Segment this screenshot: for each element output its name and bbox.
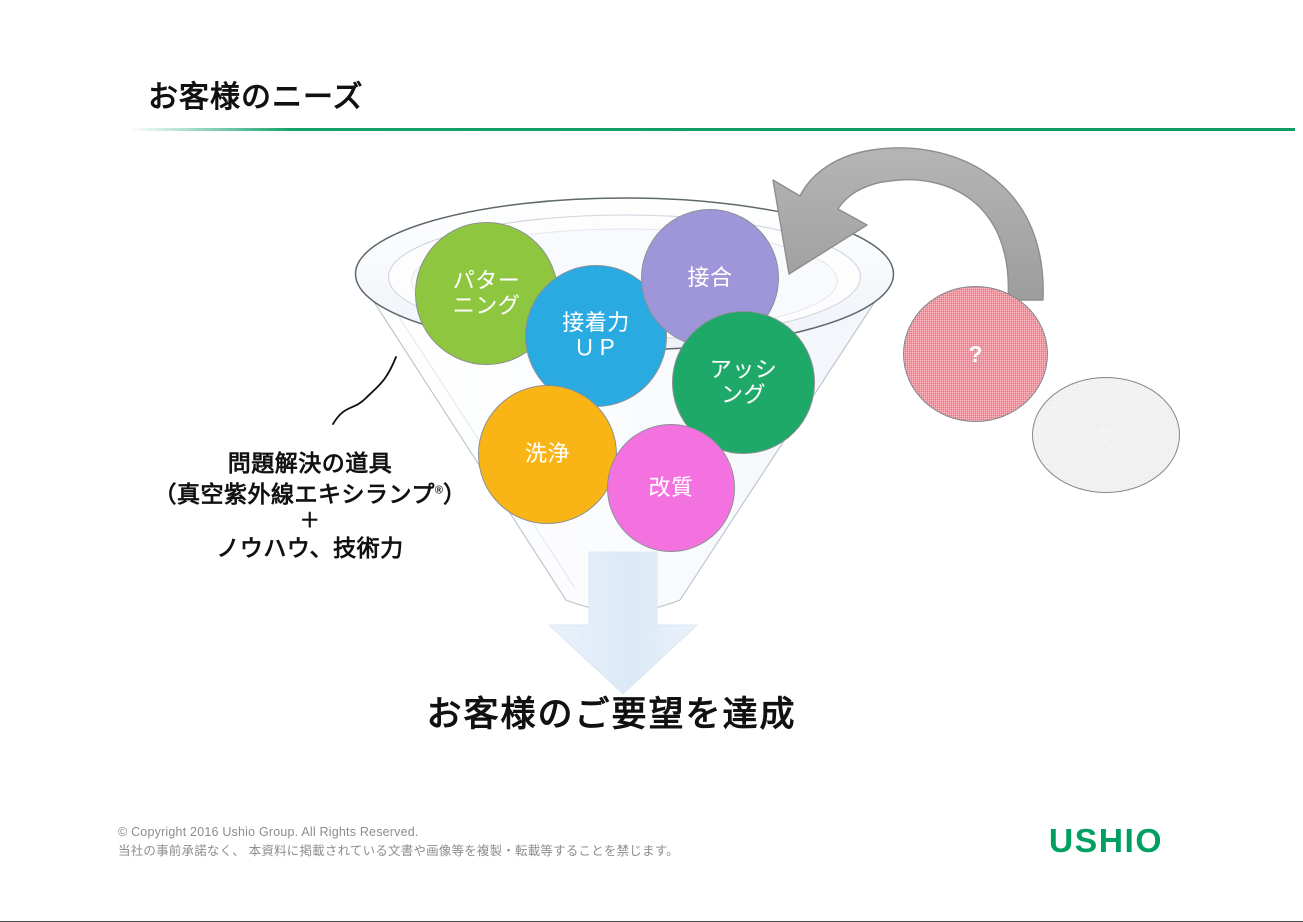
registered-mark: ® (435, 484, 443, 496)
conclusion-label: お客様のご要望を達成 (426, 686, 796, 737)
ushio-logo: USHIO (1049, 822, 1163, 860)
bubble-patterning-line2: ニング (453, 294, 521, 319)
bubble-modifying[interactable]: 改質 (607, 424, 735, 552)
bubble-ashing-line2: ング (710, 383, 778, 408)
leader-line (333, 357, 396, 424)
slide-canvas: お客様のニーズ (0, 0, 1303, 922)
left-annotation-line1: 問題解決の道具 (110, 448, 510, 479)
footer-copyright: © Copyright 2016 Ushio Group. All Rights… (118, 823, 679, 862)
bubble-unknown-gray-label: ? (1099, 422, 1113, 449)
left-annotation-line4: ノウハウ、技術力 (110, 533, 510, 564)
bubble-bonding-line1: 接合 (687, 266, 732, 291)
bubble-unknown-red-label: ? (968, 341, 982, 368)
bubble-cleaning-line1: 洗浄 (525, 442, 570, 467)
bubble-unknown-red[interactable]: ? (903, 286, 1048, 422)
footer-line-1: © Copyright 2016 Ushio Group. All Rights… (118, 823, 679, 842)
footer-line-2: 当社の事前承諾なく、 本資料に掲載されている文書や画像等を複製・転載等することを… (118, 842, 679, 861)
bubble-adhesion-line2: ＵＰ (562, 336, 630, 361)
bubble-unknown-gray[interactable]: ? (1032, 377, 1180, 493)
bubble-ashing-line1: アッシ (710, 358, 778, 383)
bubble-adhesion-line1: 接着力 (562, 311, 630, 336)
bubble-patterning-line1: パター (453, 269, 521, 294)
conclusion-text: お客様のご要望を達成 (0, 686, 1303, 737)
left-annotation-line2: （真空紫外線エキシランプ®） (110, 479, 510, 510)
bubble-modifying-line1: 改質 (648, 476, 693, 501)
left-annotation: 問題解決の道具 （真空紫外線エキシランプ®） ＋ ノウハウ、技術力 (110, 448, 510, 564)
left-annotation-plus: ＋ (110, 510, 510, 533)
left-annotation-line2-prefix: （真空紫外線エキシランプ (154, 481, 435, 507)
left-annotation-line2-suffix: ） (443, 481, 467, 507)
